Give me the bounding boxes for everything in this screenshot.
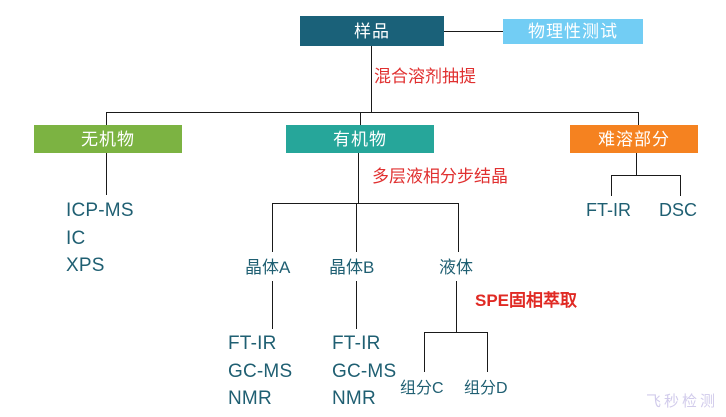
node-liquid: 液体: [439, 257, 473, 280]
box-sample-label: 样品: [354, 23, 390, 40]
process-label-spe: SPE固相萃取: [475, 292, 577, 309]
crystal-b-methods-list: FT-IR GC-MS NMR: [332, 330, 396, 413]
box-organic[interactable]: 有机物: [286, 125, 434, 153]
diagram-canvas: 样品 物理性测试 无机物 有机物 难溶部分 混合溶剂抽提 多层液相分步结晶 SP…: [0, 0, 726, 417]
connector-sample-down: [371, 46, 372, 113]
connector-insoluble-bus: [611, 175, 681, 176]
connector-drop-insoluble: [638, 112, 639, 126]
crystal-b-method-item: GC-MS: [332, 358, 396, 386]
connector-drop-inorganic: [106, 112, 107, 126]
inorganic-method-item: XPS: [66, 252, 134, 280]
connector-organic-liquid: [458, 203, 459, 252]
process-label-solvent-extraction: 混合溶剂抽提: [374, 68, 476, 85]
process-label-fractional-crystallization: 多层液相分步结晶: [372, 168, 508, 185]
insoluble-method-ftir: FT-IR: [586, 198, 631, 222]
inorganic-method-item: ICP-MS: [66, 197, 134, 225]
box-organic-label: 有机物: [333, 131, 387, 148]
connector-organic-crystalA: [272, 203, 273, 252]
connector-insoluble-down: [636, 153, 637, 176]
box-physical-test[interactable]: 物理性测试: [503, 19, 643, 44]
crystal-b-method-item: FT-IR: [332, 330, 396, 358]
connector-organic-bus: [272, 203, 459, 204]
connector-insoluble-ftir: [611, 175, 612, 196]
connector-drop-organic: [360, 112, 361, 126]
connector-liquid-compD: [487, 332, 488, 372]
connector-liquid-down: [456, 281, 457, 333]
node-crystal-a: 晶体A: [245, 257, 290, 280]
connector-liquid-compC: [424, 332, 425, 372]
connector-organic-crystalB: [356, 203, 357, 252]
connector-organic-down: [358, 153, 359, 204]
node-component-d: 组分D: [464, 378, 508, 400]
inorganic-methods-list: ICP-MS IC XPS: [66, 197, 134, 280]
connector-level2-bus: [106, 112, 639, 113]
connector-crystalB-methods: [356, 281, 357, 329]
crystal-a-method-item: NMR: [228, 385, 292, 413]
box-insoluble[interactable]: 难溶部分: [570, 125, 698, 153]
inorganic-method-item: IC: [66, 225, 134, 253]
node-crystal-b: 晶体B: [329, 257, 374, 280]
box-sample[interactable]: 样品: [300, 16, 444, 46]
box-insoluble-label: 难溶部分: [598, 131, 670, 148]
insoluble-method-dsc: DSC: [659, 198, 697, 222]
box-inorganic[interactable]: 无机物: [34, 125, 182, 153]
crystal-a-method-item: FT-IR: [228, 330, 292, 358]
box-inorganic-label: 无机物: [81, 131, 135, 148]
crystal-a-method-item: GC-MS: [228, 358, 292, 386]
connector-insoluble-dsc: [680, 175, 681, 196]
connector-inorganic-methods: [106, 153, 107, 195]
crystal-b-method-item: NMR: [332, 385, 396, 413]
box-physical-test-label: 物理性测试: [528, 23, 618, 40]
node-component-c: 组分C: [400, 378, 444, 400]
connector-liquid-bus: [424, 332, 488, 333]
connector-sample-to-physical: [444, 31, 503, 32]
connector-crystalA-methods: [272, 281, 273, 329]
crystal-a-methods-list: FT-IR GC-MS NMR: [228, 330, 292, 413]
watermark: 飞秒检测: [646, 390, 718, 411]
